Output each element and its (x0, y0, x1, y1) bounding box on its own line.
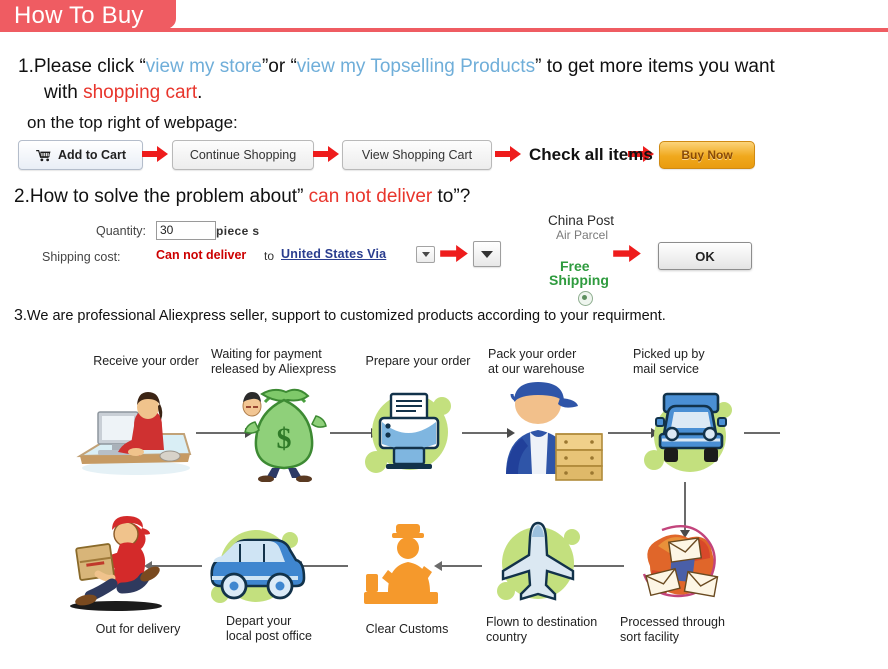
printer-icon (358, 382, 460, 482)
flow-label-clear-customs: Clear Customs (355, 622, 459, 637)
flow-connector-5a (744, 432, 780, 434)
step-1-or: or (268, 56, 290, 77)
flow-label-waiting-for-payment: Waiting for payment released by Aliexpre… (211, 347, 347, 377)
continue-shopping-button[interactable]: Continue Shopping (172, 140, 314, 170)
buy-now-button[interactable]: Buy Now (659, 141, 755, 169)
check-all-items-text: Check all items (529, 145, 653, 165)
arrow-to-view-cart (313, 146, 339, 162)
free-shipping-line2: Shipping (549, 272, 609, 288)
view-shopping-cart-button[interactable]: View Shopping Cart (342, 140, 492, 170)
quantity-label: Quantity: (96, 224, 146, 238)
quantity-input[interactable] (156, 221, 216, 240)
shopping-cart-highlight: shopping cart (83, 82, 197, 103)
step-2-post: to”? (432, 186, 470, 207)
link-view-my-topselling-products[interactable]: view my Topselling Products (297, 56, 535, 77)
step-1-line-3: on the top right of webpage: (27, 110, 238, 136)
arrow-to-continue-shopping (142, 146, 168, 162)
link-view-my-store[interactable]: view my store (146, 56, 262, 77)
postal-van-icon (200, 520, 310, 610)
continue-shopping-label: Continue Shopping (190, 148, 296, 162)
step-2-line: 2.How to solve the problem about” can no… (14, 184, 470, 210)
shopping-cart-icon (35, 149, 52, 162)
step-1-text-a: Please click (34, 56, 140, 77)
worker-packing-boxes-icon (494, 382, 604, 482)
chevron-down-icon (422, 252, 430, 257)
ok-label: OK (695, 249, 715, 264)
mail-sorting-icon (628, 524, 732, 606)
pieces-label: piece s (216, 224, 260, 238)
can-not-deliver-highlight: can not deliver (309, 186, 433, 207)
step-1-line-2: with shopping cart. (44, 80, 202, 106)
arrow-to-check-all-items (495, 146, 521, 162)
flow-label-out-for-delivery: Out for delivery (78, 622, 198, 637)
country-link[interactable]: United States Via (281, 247, 386, 261)
add-to-cart-label: Add to Cart (58, 148, 126, 162)
flow-label-depart-local-post-office: Depart your local post office (226, 614, 346, 644)
flow-label-prepare-your-order: Prepare your order (360, 354, 476, 369)
customs-officer-icon (358, 522, 452, 606)
chevron-down-icon (481, 251, 493, 258)
buy-now-label: Buy Now (681, 148, 732, 162)
carrier-dropdown[interactable] (473, 241, 501, 267)
airplane-icon (488, 515, 588, 611)
delivery-truck-icon (638, 382, 744, 482)
step-1-text-b: to get more items you want (541, 56, 774, 77)
how-to-buy-page: How To Buy 1.Please click “view my store… (0, 0, 888, 669)
view-shopping-cart-label: View Shopping Cart (362, 148, 472, 162)
flow-label-flown-to-destination: Flown to destination country (486, 615, 614, 645)
step-2-pre: How to solve the problem about” (30, 186, 309, 207)
step-2-number: 2. (14, 186, 30, 207)
svg-text:$: $ (277, 422, 292, 455)
country-dropdown-small[interactable] (416, 246, 435, 263)
step-1-line-2-post: . (197, 82, 202, 103)
arrow-to-carrier-dropdown (440, 245, 468, 261)
step-1-line-1: 1.Please click “view my store”or “view m… (18, 54, 775, 80)
add-to-cart-button[interactable]: Add to Cart (18, 140, 143, 170)
carrier-name-line1: China Post (548, 213, 614, 228)
carrier-name-line2: Air Parcel (556, 228, 608, 242)
page-header: How To Buy (0, 0, 888, 34)
page-title: How To Buy (14, 2, 144, 30)
shipping-cost-label: Shipping cost: (42, 250, 121, 264)
money-bag-icon: $ (232, 386, 336, 482)
step-3-number: 3 (14, 307, 23, 324)
arrow-to-ok-button (613, 245, 641, 261)
flow-label-receive-your-order: Receive your order (86, 354, 206, 369)
ok-button[interactable]: OK (658, 242, 752, 270)
checkout-button-row: Add to Cart Continue Shopping View Shopp… (0, 140, 888, 174)
to-label: to (264, 249, 274, 263)
step-3-text: .We are professional Aliexpress seller, … (23, 308, 666, 324)
flow-label-processed-through-sort-facility: Processed through sort facility (620, 615, 748, 645)
step-1-line-2-pre: with (44, 82, 83, 103)
person-at-computer-icon (72, 390, 196, 478)
step-3-line: 3.We are professional Aliexpress seller,… (14, 303, 666, 329)
running-courier-icon (64, 512, 180, 612)
step-1-number: 1. (18, 56, 34, 77)
flow-label-pack-your-order: Pack your order at our warehouse (488, 347, 598, 377)
flow-label-picked-up-by-mail-service: Picked up by mail service (633, 347, 743, 377)
can-not-deliver-status: Can not deliver (156, 248, 246, 262)
